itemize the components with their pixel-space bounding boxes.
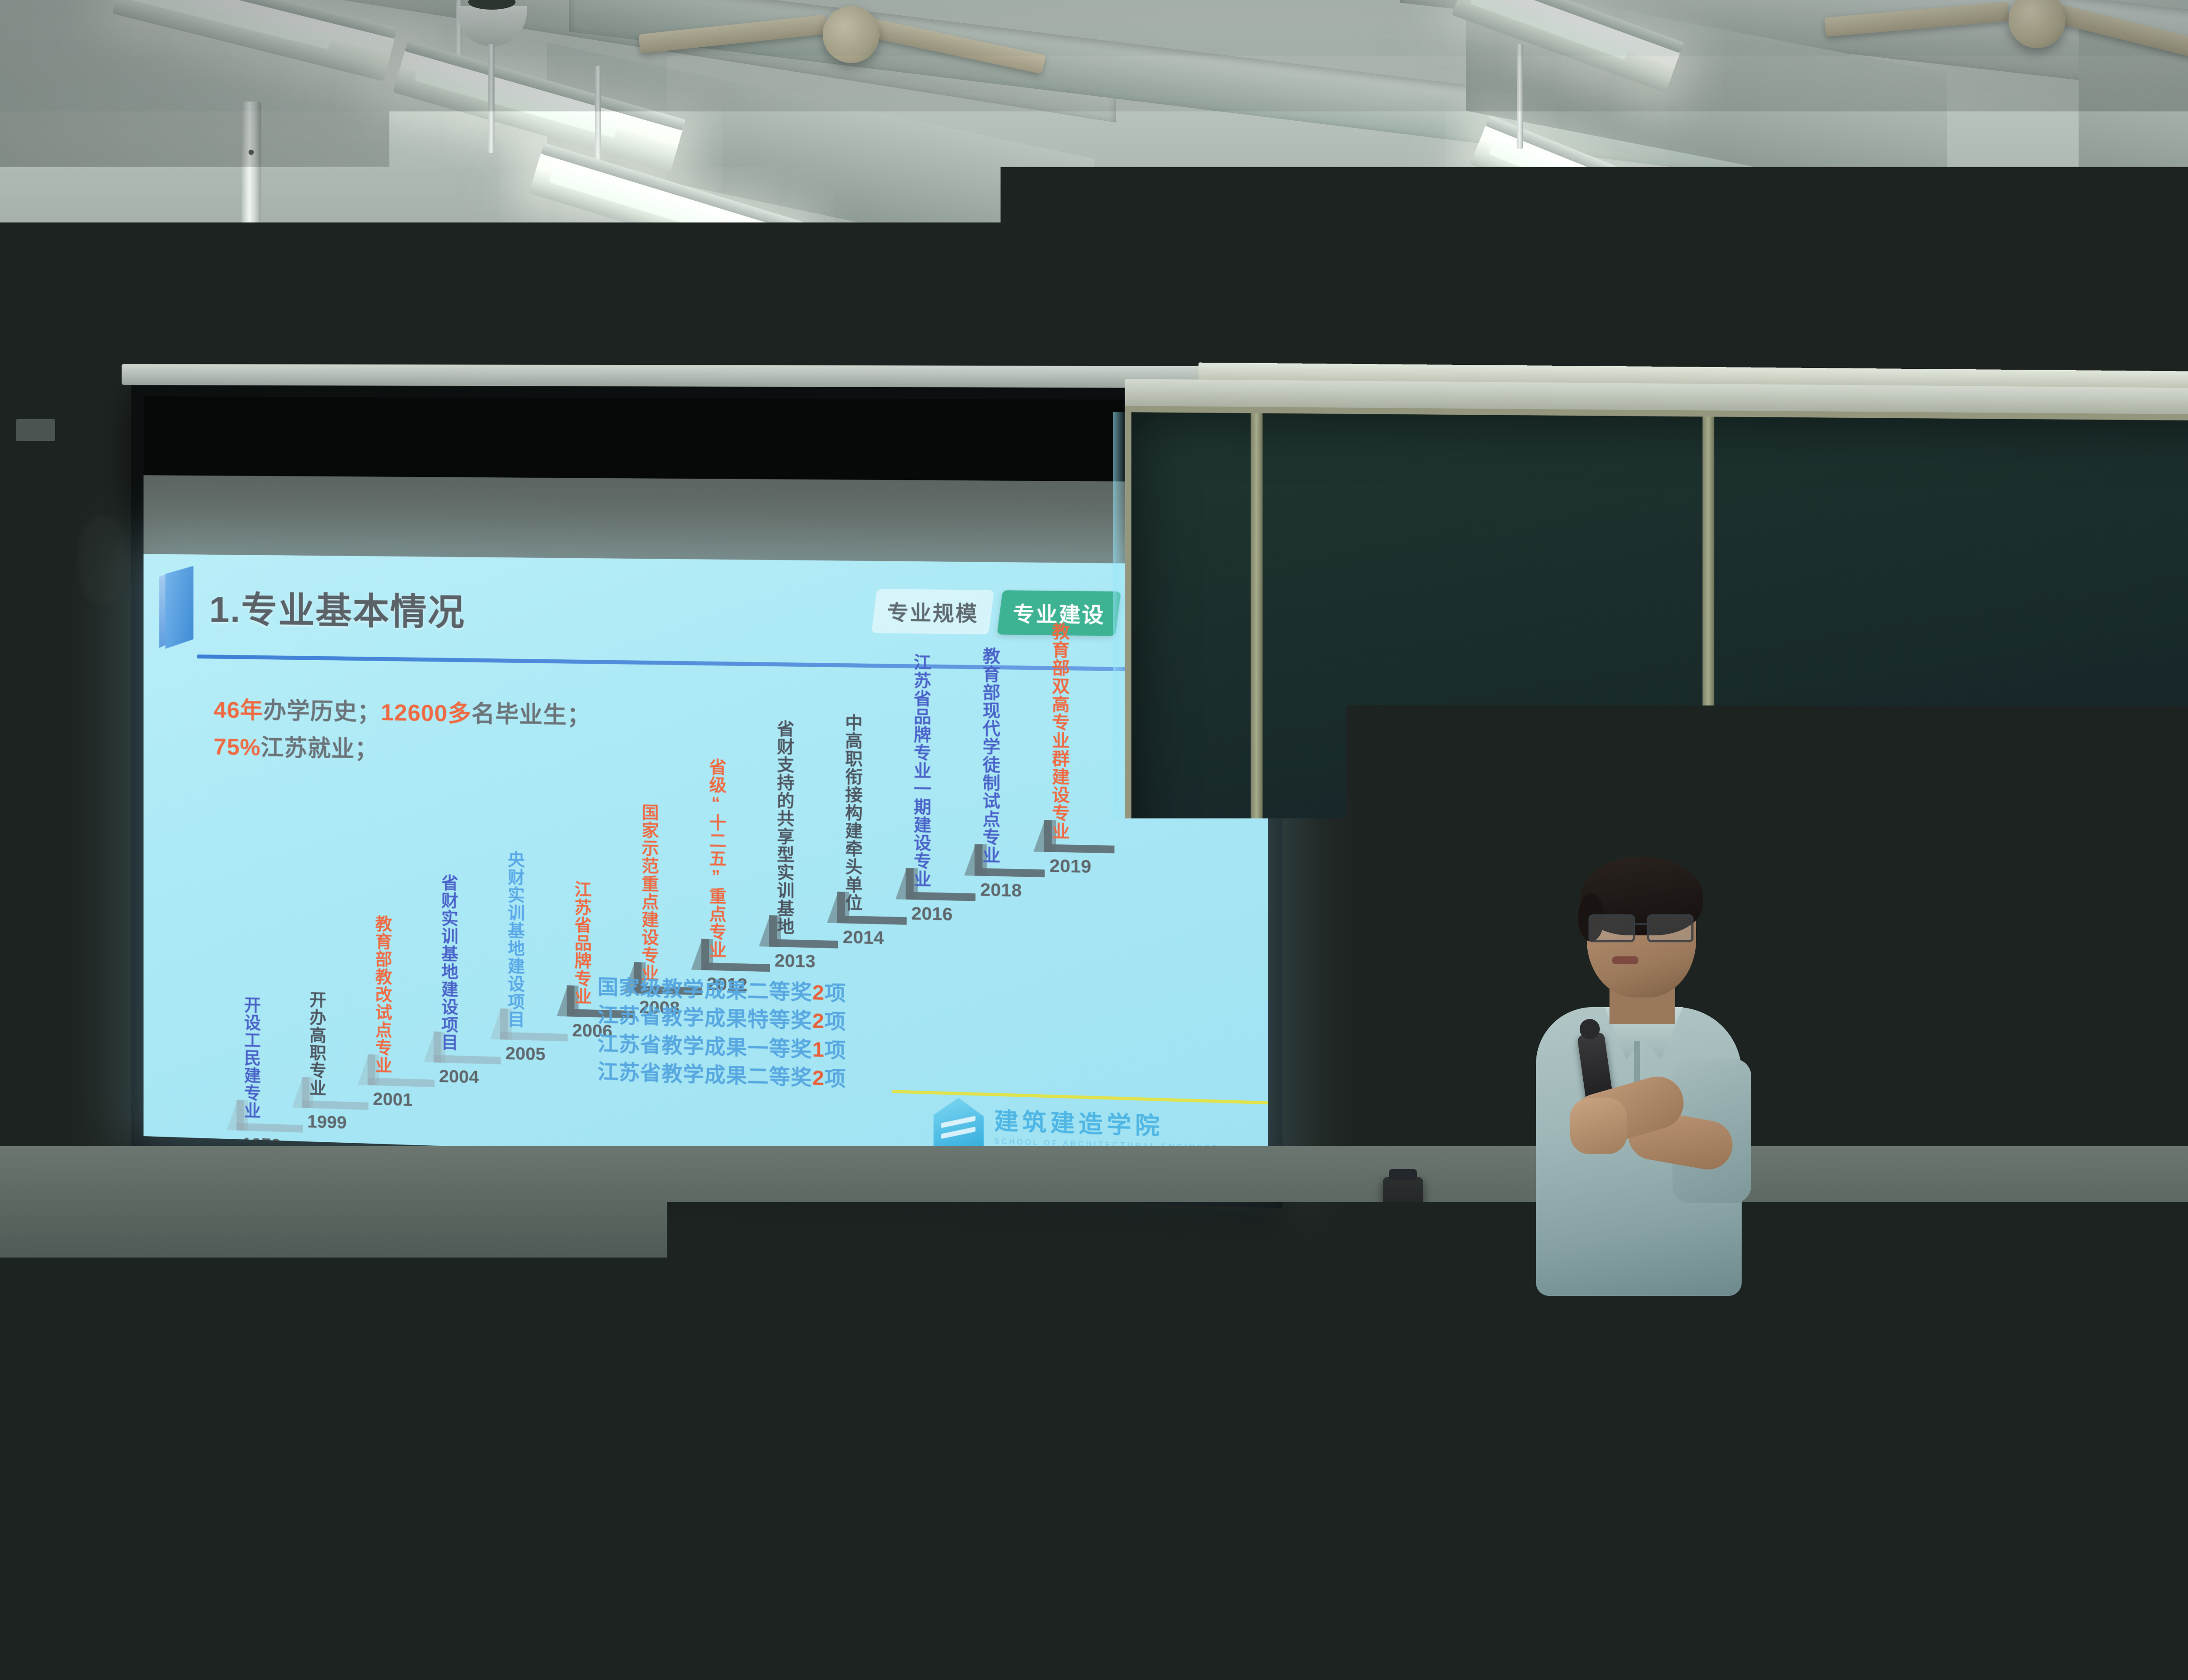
audience-head <box>1559 1317 1664 1438</box>
step-tread <box>837 916 907 925</box>
timeline-label: 省级“十二五”重点专业 <box>707 758 724 959</box>
step-tread <box>434 1055 501 1064</box>
audience-head <box>1540 1470 1690 1643</box>
audience-head <box>1795 1317 1899 1438</box>
box-label-band <box>1260 1249 1302 1253</box>
presenter-mouth <box>1612 956 1638 964</box>
projector-mount-rod <box>242 101 261 268</box>
glasses-lens <box>1647 914 1694 942</box>
audience-head <box>1118 1242 1189 1324</box>
lecture-hall-photo: 1.专业基本情况 专业规模专业建设培养质量 46年办学历史；12600多名毕业生… <box>0 0 2188 1680</box>
award-unit: 项 <box>824 981 846 1005</box>
wall-fixture <box>16 419 55 441</box>
step-tread <box>769 939 838 948</box>
audience-head <box>2095 1271 2179 1368</box>
presenter-hand <box>1570 1098 1627 1154</box>
audience-head <box>358 1242 428 1324</box>
award-text: 江苏省教学成果特等奖 <box>597 1003 812 1032</box>
glasses-bridge <box>1630 923 1652 925</box>
timeline-year: 2001 <box>373 1089 413 1110</box>
light-hanger-rod <box>488 44 494 153</box>
award-count: 1 <box>812 1038 824 1061</box>
fan-hub <box>823 6 880 63</box>
timeline-year: 2013 <box>775 951 816 972</box>
chalk-mark <box>1214 914 1231 917</box>
wall-mark <box>79 516 127 604</box>
timeline-label: 江苏省品牌专业 <box>572 880 589 1005</box>
award-count: 2 <box>812 980 824 1004</box>
thermos-flask <box>1383 1177 1423 1269</box>
timeline-label: 教育部现代学徒制试点专业 <box>980 647 998 864</box>
step-tread <box>500 1032 568 1042</box>
audience-head <box>745 1242 816 1324</box>
timeline-label: 国家示范重点建设专业 <box>639 803 657 982</box>
building-logo-icon <box>933 1097 984 1148</box>
projection-screen: 1.专业基本情况 专业规模专业建设培养质量 46年办学历史；12600多名毕业生… <box>131 381 1283 1208</box>
box-label-band <box>1260 1217 1302 1223</box>
timeline-label: 教育部双高专业群建设专业 <box>1049 623 1068 840</box>
chalk-mark <box>1406 964 1442 966</box>
step-tread <box>302 1100 368 1110</box>
step-tread <box>975 868 1045 877</box>
ribbon-face <box>165 566 193 649</box>
timeline-year: 2018 <box>980 880 1022 901</box>
chalk-mark <box>1700 806 1711 812</box>
presenter <box>1518 853 1764 1291</box>
ribbon-bookmark-icon <box>159 566 200 649</box>
light-hanger-rod <box>1517 44 1523 149</box>
timeline-year: 1999 <box>307 1112 347 1133</box>
timeline-year: 2014 <box>843 927 884 949</box>
timeline-chart: 1979开设工民建专业1999开办高职专业2001教育部教改试点专业2004省财… <box>179 699 1243 1163</box>
award-unit: 项 <box>824 1009 846 1033</box>
timeline-label: 教育部教改试点专业 <box>373 915 390 1074</box>
slide-tab-label: 专业规模 <box>887 596 978 627</box>
award-text: 江苏省教学成果一等奖 <box>597 1032 812 1061</box>
award-text: 江苏省教学成果二等奖 <box>597 1060 812 1090</box>
glasses-lens <box>1588 914 1635 942</box>
audience-head <box>1681 1242 1752 1324</box>
step-tread <box>701 962 770 972</box>
award-unit: 项 <box>824 1067 846 1091</box>
awards-list: 国家级教学成果二等奖2项江苏省教学成果特等奖2项江苏省教学成果一等奖1项江苏省教… <box>597 973 846 1093</box>
audience-head <box>166 1242 236 1324</box>
slide-title-rule <box>197 654 1249 673</box>
blackboard-edge-glow <box>1113 412 1127 1172</box>
projected-slide: 1.专业基本情况 专业规模专业建设培养质量 46年办学历史；12600多名毕业生… <box>144 554 1268 1173</box>
timeline-label: 省财支持的共享型实训基地 <box>775 720 792 935</box>
timeline-label: 省财实训基地建设项目 <box>439 874 456 1051</box>
audience-head <box>879 1470 1029 1643</box>
audience-head <box>550 1242 620 1324</box>
step-tread <box>1044 844 1114 853</box>
audience-head <box>1404 1382 1531 1529</box>
audience-head <box>1866 1470 2016 1643</box>
screen-dark-band <box>144 396 1267 482</box>
timeline-label: 中高职衔接构建牵头单位 <box>843 714 861 912</box>
slide-title: 1.专业基本情况 <box>209 580 465 636</box>
product-box <box>1256 1205 1308 1271</box>
timeline-year: 2016 <box>911 904 953 925</box>
award-unit: 项 <box>824 1038 846 1062</box>
screen-gray-band <box>144 475 1267 565</box>
award-count: 2 <box>812 1066 824 1090</box>
timeline-label: 开设工民建专业 <box>242 996 259 1120</box>
audience-head <box>1196 1470 1346 1643</box>
blackboard-divider <box>1251 413 1262 1170</box>
timeline-year: 2019 <box>1049 856 1091 878</box>
audience-head <box>535 1470 685 1643</box>
step-tread <box>906 892 976 901</box>
timeline-year: 2005 <box>505 1044 546 1065</box>
award-text: 国家级教学成果二等奖 <box>597 975 812 1004</box>
podium-perforation-panel <box>1234 1291 1348 1422</box>
eyeglasses-icon <box>1588 914 1694 941</box>
timeline-label: 江苏省品牌专业一期建设专业 <box>911 653 929 888</box>
slide-tab-1[interactable]: 专业规模 <box>871 589 994 634</box>
award-count: 2 <box>812 1009 824 1032</box>
step-tread <box>237 1123 303 1133</box>
timeline-year: 2004 <box>439 1067 479 1088</box>
step-tread <box>368 1078 435 1087</box>
timeline-label: 开办高职专业 <box>307 991 324 1097</box>
audience-head <box>434 1317 538 1438</box>
timeline-label: 央财实训基地建设项目 <box>505 850 523 1029</box>
cup-stack <box>1221 1225 1255 1273</box>
audience-head <box>215 1470 365 1643</box>
screen-roller <box>122 364 1296 388</box>
